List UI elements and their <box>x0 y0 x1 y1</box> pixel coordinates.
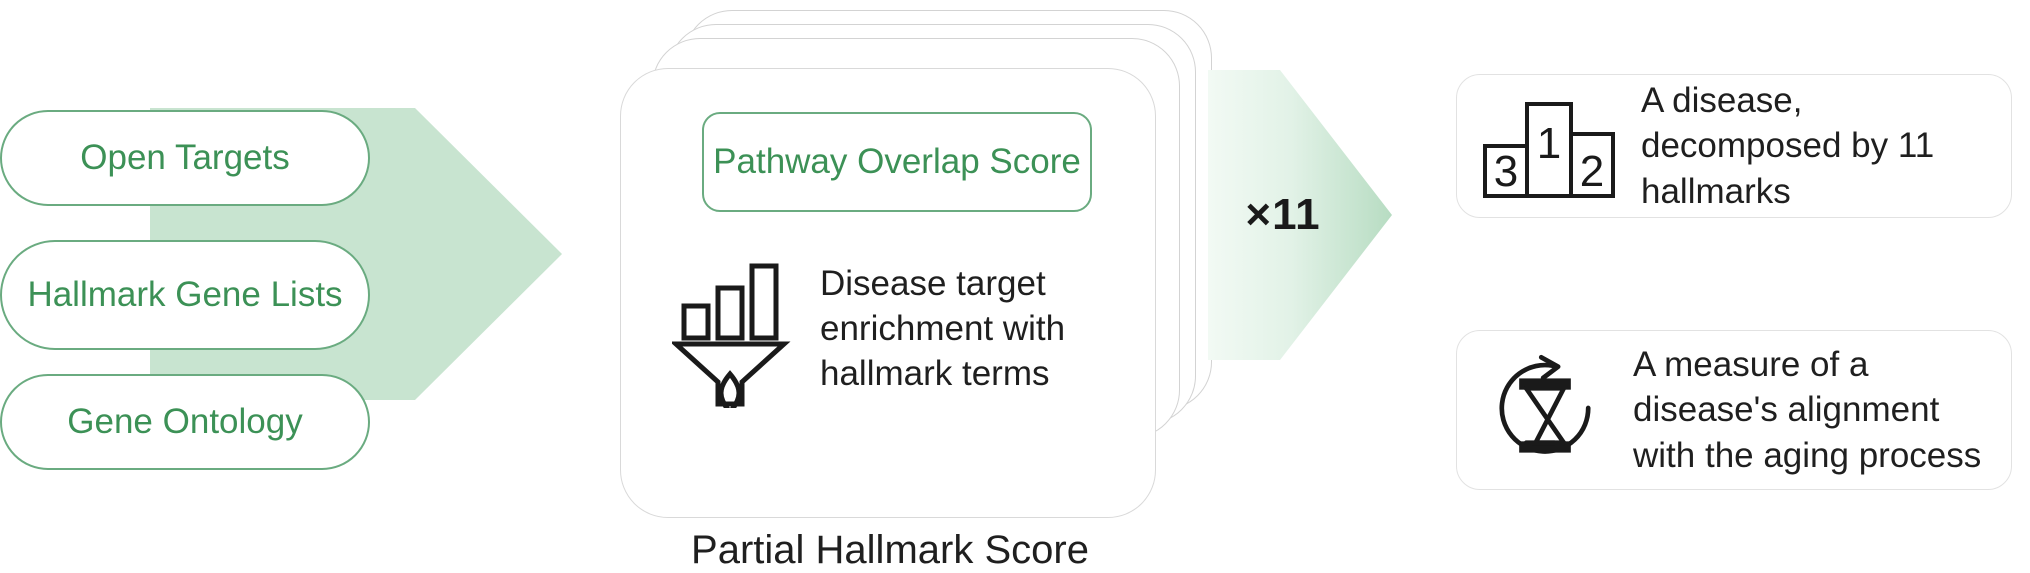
output-card-text: A measure of a disease's alignment with … <box>1633 342 1985 479</box>
hourglass-cycle-icon <box>1483 346 1607 475</box>
output-card-text: A disease, decomposed by 11 hallmarks <box>1641 78 1985 215</box>
input-pill-gene-ontology[interactable]: Gene Ontology <box>0 374 370 470</box>
pathway-overlap-score-chip[interactable]: Pathway Overlap Score <box>702 112 1092 212</box>
diagram-canvas: Open Targets Hallmark Gene Lists Gene On… <box>0 0 2030 572</box>
input-pill-label: Open Targets <box>80 137 290 178</box>
podium-icon: 3 1 2 <box>1483 90 1615 203</box>
pathway-overlap-score-label: Pathway Overlap Score <box>713 141 1081 183</box>
partial-hallmark-score-caption: Partial Hallmark Score <box>620 528 1160 573</box>
output-card-hallmark-decomposition[interactable]: 3 1 2 A disease, decomposed by 11 hallma… <box>1456 74 2012 218</box>
input-pill-open-targets[interactable]: Open Targets <box>0 110 370 206</box>
funnel-bars-drop-icon <box>672 258 792 408</box>
input-pill-label: Gene Ontology <box>67 401 302 442</box>
input-pill-label: Hallmark Gene Lists <box>27 274 342 315</box>
svg-text:2: 2 <box>1580 147 1604 196</box>
multiplier-label: ×11 <box>1208 70 1358 360</box>
input-pill-hallmark-gene-lists[interactable]: Hallmark Gene Lists <box>0 240 370 350</box>
svg-text:1: 1 <box>1537 119 1561 168</box>
output-card-aging-alignment[interactable]: A measure of a disease's alignment with … <box>1456 330 2012 490</box>
center-card-description: Disease target enrichment with hallmark … <box>820 258 1142 396</box>
svg-text:3: 3 <box>1494 147 1518 196</box>
center-card-body: Disease target enrichment with hallmark … <box>672 258 1142 418</box>
